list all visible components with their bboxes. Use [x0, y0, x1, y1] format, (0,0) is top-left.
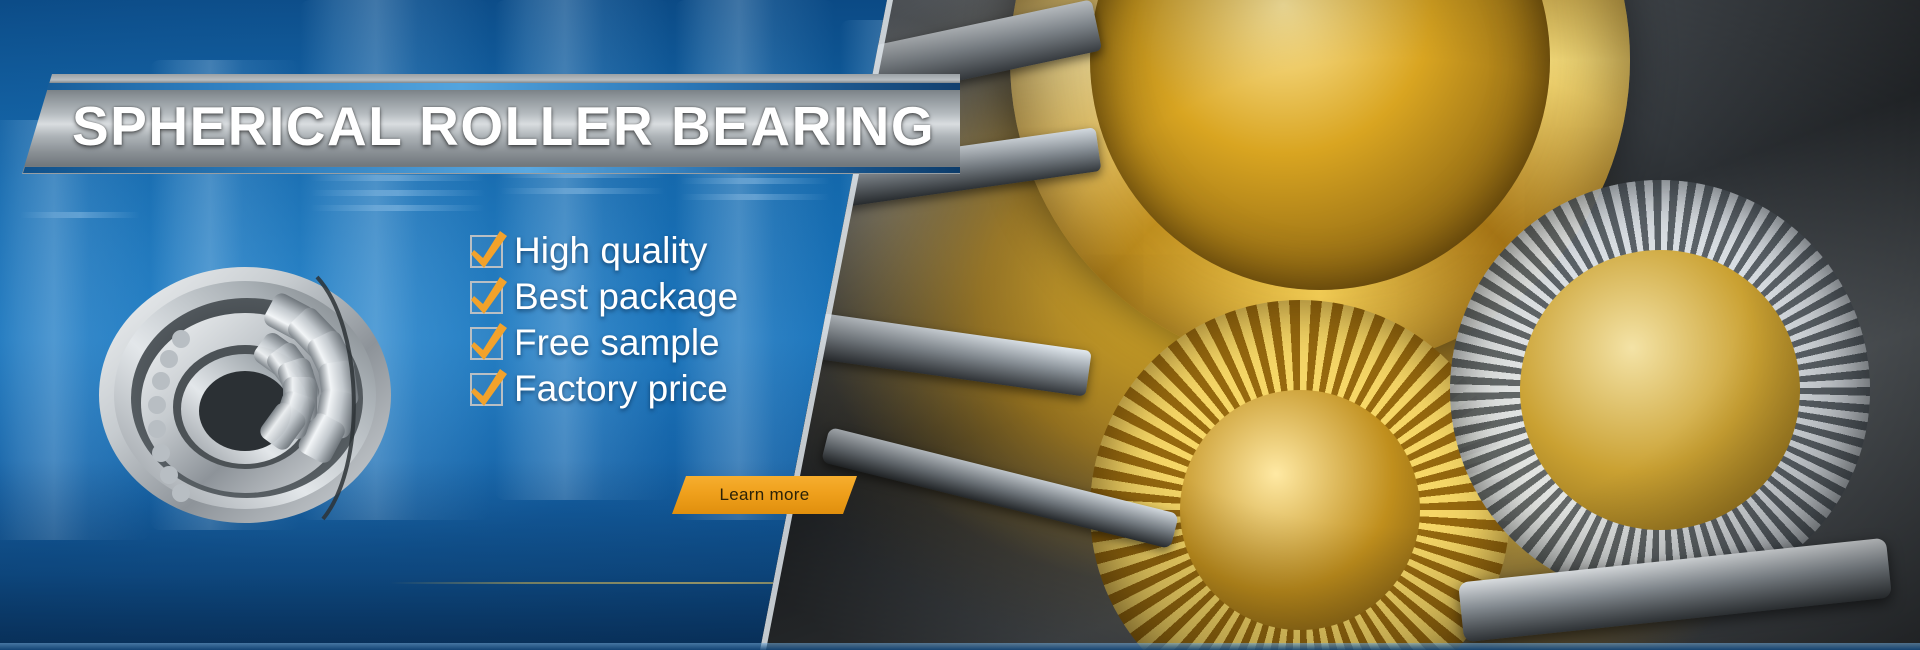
learn-more-button[interactable]: Learn more — [672, 476, 857, 514]
list-item: Free sample — [470, 320, 850, 366]
backdrop-ring — [310, 175, 485, 181]
checkbox-checked-icon — [470, 235, 503, 268]
product-promo-banner: SPHERICAL ROLLER BEARING — [0, 0, 1920, 650]
backdrop-ring — [680, 194, 830, 200]
backdrop-ring — [310, 190, 485, 196]
list-item: Best package — [470, 274, 850, 320]
list-item: High quality — [470, 228, 850, 274]
feature-label: Free sample — [514, 322, 720, 364]
feature-label: Best package — [514, 276, 738, 318]
title-top-accent-line — [0, 83, 960, 90]
checkbox-checked-icon — [470, 281, 503, 314]
feature-label: Factory price — [514, 368, 728, 410]
title-plate-wrap: SPHERICAL ROLLER BEARING — [0, 74, 960, 174]
feature-list: High quality Best package Free sample — [470, 228, 850, 412]
spherical-roller-bearing-photo — [95, 235, 405, 530]
page-title: SPHERICAL ROLLER BEARING — [72, 92, 952, 160]
banner-bottom-edge — [0, 643, 1920, 650]
checkbox-checked-icon — [470, 373, 503, 406]
learn-more-label: Learn more — [720, 485, 810, 505]
list-item: Factory price — [470, 366, 850, 412]
backdrop-ring — [680, 178, 830, 184]
backdrop-ring — [500, 188, 665, 194]
feature-label: High quality — [514, 230, 707, 272]
title-bottom-accent-line — [0, 167, 960, 173]
backdrop-ring — [20, 212, 140, 218]
backdrop-ring — [310, 205, 485, 211]
checkbox-checked-icon — [470, 327, 503, 360]
